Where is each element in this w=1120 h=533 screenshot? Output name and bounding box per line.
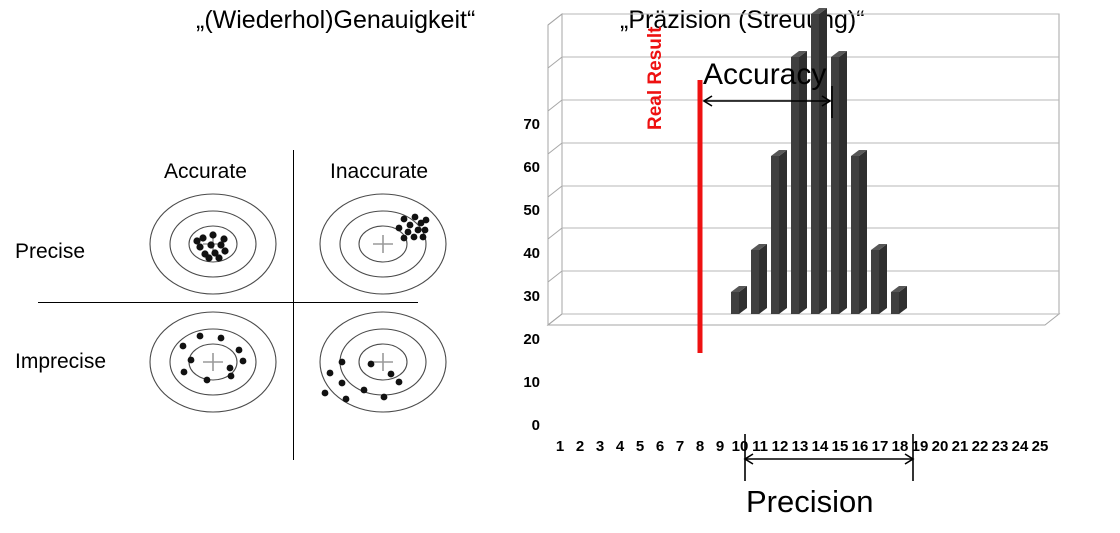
target-accurate-imprecise [148,310,278,415]
histogram-panel: 70 60 50 40 30 20 10 0 1 2 3 4 5 6 7 8 9… [500,0,1120,533]
x-tick-8: 8 [689,438,711,455]
bar-10 [751,244,767,314]
y-tick-40: 40 [506,245,540,262]
x-tick-7: 7 [669,438,691,455]
bar-11 [771,150,787,314]
y-tick-60: 60 [506,159,540,176]
x-tick-5: 5 [629,438,651,455]
x-tick-14: 14 [809,438,831,455]
matrix-horizontal-divider [38,302,418,303]
x-tick-17: 17 [869,438,891,455]
bar-13 [811,8,827,314]
target-accurate-precise [148,192,278,297]
page-title-left: „(Wiederhol)Genauigkeit“ [196,6,475,35]
column-header-inaccurate: Inaccurate [330,160,428,184]
slide-root: „(Wiederhol)Genauigkeit“ „Präzision (Str… [0,0,1120,533]
x-tick-6: 6 [649,438,671,455]
column-header-accurate: Accurate [164,160,247,184]
shot-group [322,359,403,403]
y-tick-10: 10 [506,374,540,391]
y-tick-50: 50 [506,202,540,219]
x-tick-21: 21 [949,438,971,455]
target-inaccurate-precise [318,192,448,297]
x-tick-11: 11 [749,438,771,455]
matrix-vertical-divider [293,150,294,460]
x-tick-18: 18 [889,438,911,455]
x-tick-25: 25 [1029,438,1051,455]
real-result-annotation-label: Real Result [645,27,667,130]
x-tick-20: 20 [929,438,951,455]
x-tick-22: 22 [969,438,991,455]
x-tick-9: 9 [709,438,731,455]
target-matrix-panel: Accurate Inaccurate Precise Imprecise [0,52,490,472]
x-tick-1: 1 [549,438,571,455]
x-tick-15: 15 [829,438,851,455]
x-tick-23: 23 [989,438,1011,455]
bar-14 [831,51,847,314]
row-header-precise: Precise [15,240,85,264]
x-tick-19: 19 [909,438,931,455]
bar-series [731,8,907,314]
target-inaccurate-imprecise [318,310,463,430]
shot-group [193,231,228,261]
bar-15 [851,150,867,314]
x-tick-24: 24 [1009,438,1031,455]
shot-group [396,214,430,242]
x-tick-10: 10 [729,438,751,455]
accuracy-annotation-label: Accuracy [703,58,826,92]
x-tick-13: 13 [789,438,811,455]
bar-9 [731,286,747,314]
x-tick-3: 3 [589,438,611,455]
x-tick-16: 16 [849,438,871,455]
bar-16 [871,244,887,314]
precision-annotation-label: Precision [746,484,874,520]
bar-17 [891,286,907,314]
y-tick-0: 0 [506,417,540,434]
y-tick-30: 30 [506,288,540,305]
row-header-imprecise: Imprecise [15,350,106,374]
y-tick-70: 70 [506,116,540,133]
x-tick-2: 2 [569,438,591,455]
x-tick-12: 12 [769,438,791,455]
y-tick-20: 20 [506,331,540,348]
x-tick-4: 4 [609,438,631,455]
